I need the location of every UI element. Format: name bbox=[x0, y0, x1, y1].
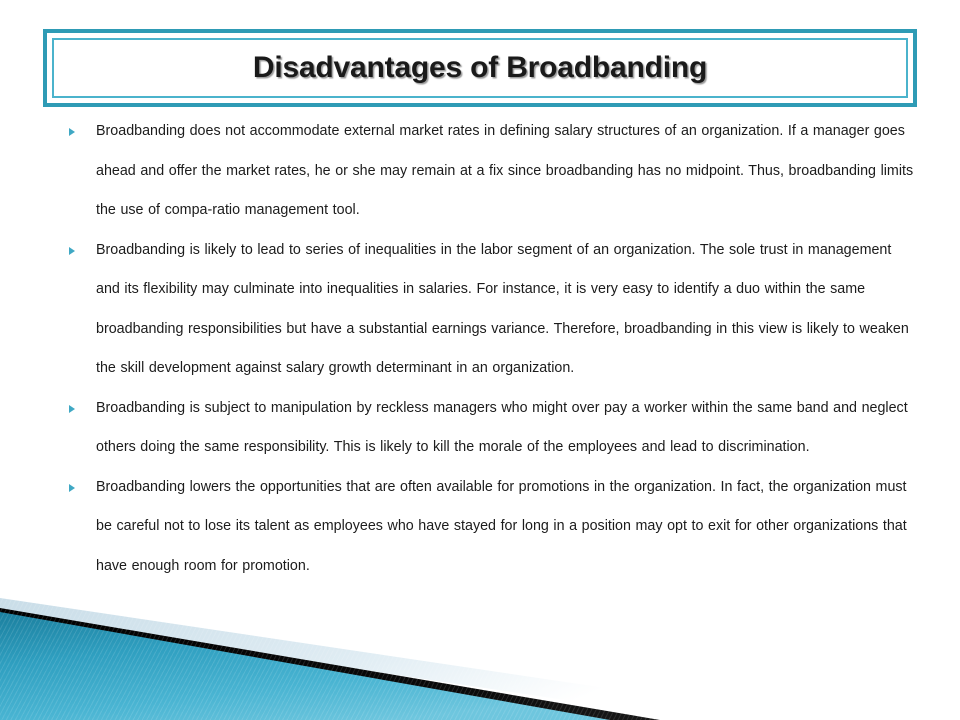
list-item-text: Broadbanding is likely to lead to series… bbox=[96, 242, 909, 377]
list-item-text: Broadbanding lowers the opportunities th… bbox=[96, 479, 907, 574]
slide-canvas: Disadvantages of Broadbanding Broadbandi… bbox=[0, 0, 960, 720]
list-item: Broadbanding lowers the opportunities th… bbox=[62, 468, 918, 587]
list-item-text: Broadbanding does not accommodate extern… bbox=[96, 123, 913, 218]
wedge-svg bbox=[0, 590, 700, 720]
wedge-pale-band bbox=[0, 598, 700, 720]
list-item: Broadbanding is subject to manipulation … bbox=[62, 389, 918, 468]
triangle-right-icon bbox=[68, 231, 76, 255]
wedge-blue-band bbox=[0, 612, 610, 720]
triangle-right-icon bbox=[68, 112, 76, 136]
wedge-stripe-texture bbox=[0, 590, 700, 720]
page-title: Disadvantages of Broadbanding bbox=[253, 51, 707, 85]
triangle-right-icon bbox=[68, 468, 76, 492]
list-item: Broadbanding is likely to lead to series… bbox=[62, 231, 918, 389]
title-frame: Disadvantages of Broadbanding bbox=[43, 29, 917, 107]
triangle-right-icon bbox=[68, 389, 76, 413]
list-item-text: Broadbanding is subject to manipulation … bbox=[96, 400, 908, 456]
decorative-corner-graphic bbox=[0, 590, 700, 720]
title-frame-inner: Disadvantages of Broadbanding bbox=[52, 38, 908, 98]
wedge-black-band bbox=[0, 608, 660, 720]
list-item: Broadbanding does not accommodate extern… bbox=[62, 112, 918, 231]
bullet-list: Broadbanding does not accommodate extern… bbox=[62, 112, 918, 586]
